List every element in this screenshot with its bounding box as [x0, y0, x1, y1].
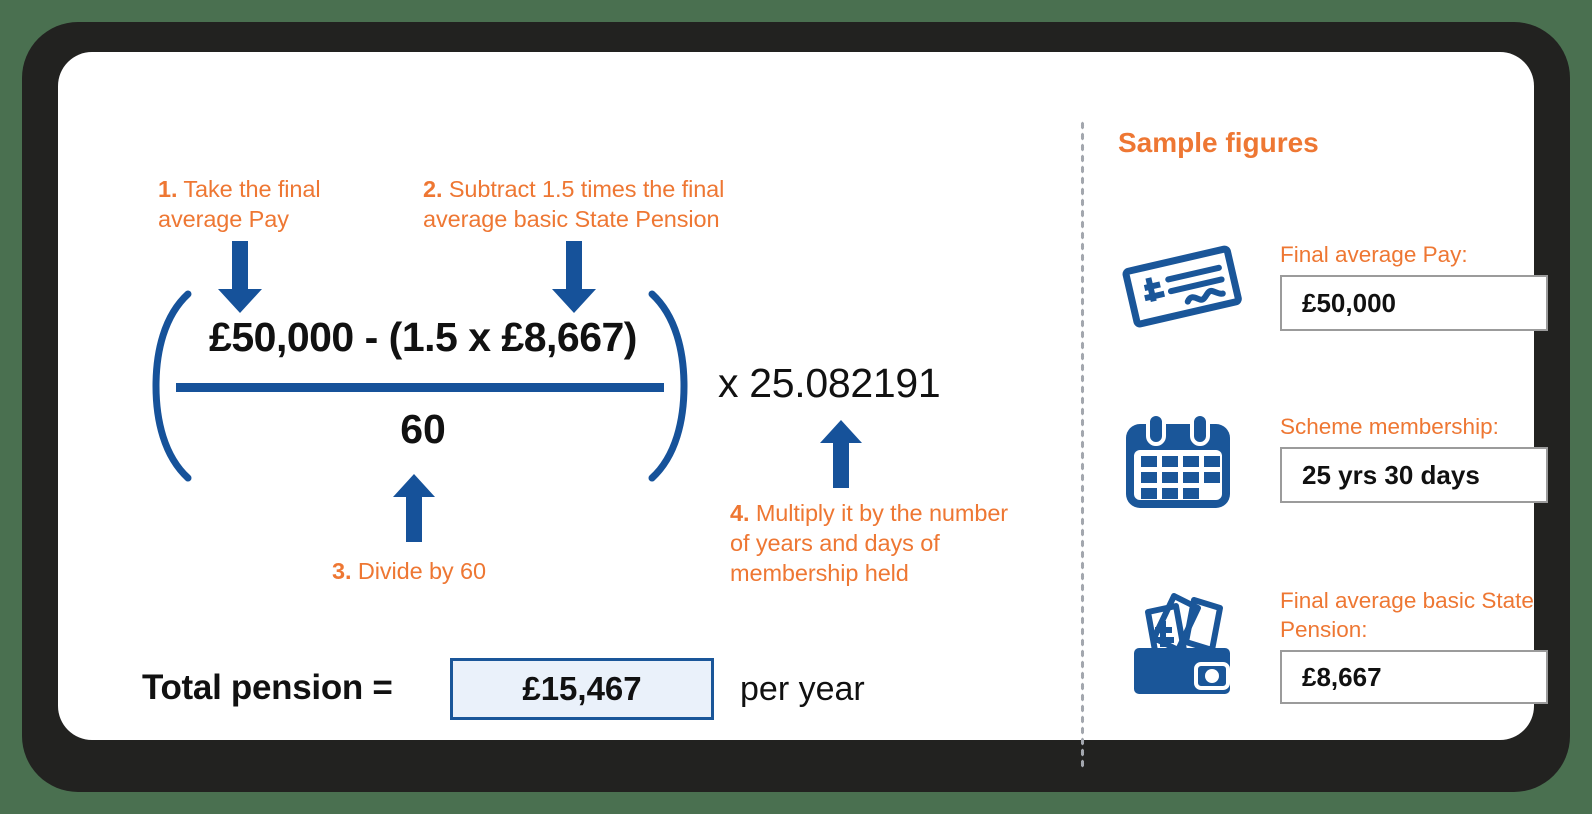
step-4-number: 4.: [730, 500, 749, 526]
total-pension-label: Total pension =: [142, 668, 393, 708]
step-2-caption: 2. Subtract 1.5 times the final average …: [423, 174, 763, 234]
figure-body: Scheme membership: 25 yrs 30 days: [1280, 412, 1552, 503]
down-arrow-icon: [551, 241, 597, 313]
dotted-divider: [1080, 120, 1085, 770]
step-1-caption: 1. Take the final average Pay: [158, 174, 408, 234]
step-4-caption: 4. Multiply it by the number of years an…: [730, 498, 1030, 588]
fraction-bar: [176, 383, 664, 392]
formula-multiplier: x 25.082191: [718, 360, 940, 407]
figure-value-box: 25 yrs 30 days: [1280, 447, 1548, 503]
sample-figures-title: Sample figures: [1118, 127, 1319, 159]
infographic-canvas: 1. Take the final average Pay 2. Subtrac…: [0, 0, 1592, 814]
content-card: 1. Take the final average Pay 2. Subtrac…: [58, 52, 1534, 740]
figure-body: Final average basic State Pension: £8,66…: [1280, 586, 1552, 704]
figure-label: Final average Pay:: [1280, 240, 1552, 269]
step-2-number: 2.: [423, 176, 442, 202]
step-3-number: 3.: [332, 558, 351, 584]
up-arrow-icon: [819, 420, 863, 488]
figure-value-box: £50,000: [1280, 275, 1548, 331]
formula-numerator: £50,000 - (1.5 x £8,667): [188, 314, 658, 361]
step-1-text: Take the final average Pay: [158, 176, 321, 232]
wallet-icon: [1118, 586, 1246, 696]
figure-body: Final average Pay: £50,000: [1280, 240, 1552, 331]
down-arrow-icon: [217, 241, 263, 313]
up-arrow-icon: [392, 474, 436, 542]
step-4-text: Multiply it by the number of years and d…: [730, 500, 1008, 586]
figure-label: Final average basic State Pension:: [1280, 586, 1552, 644]
formula-denominator: 60: [188, 406, 658, 453]
step-1-number: 1.: [158, 176, 177, 202]
step-2-text: Subtract 1.5 times the final average bas…: [423, 176, 724, 232]
figure-value-box: £8,667: [1280, 650, 1548, 704]
calendar-icon: [1118, 412, 1246, 522]
step-3-text: Divide by 60: [351, 558, 486, 584]
total-pension-suffix: per year: [740, 670, 865, 709]
total-pension-value-box: £15,467: [450, 658, 714, 720]
figure-label: Scheme membership:: [1280, 412, 1552, 441]
step-3-caption: 3. Divide by 60: [332, 556, 592, 586]
cheque-icon: [1118, 240, 1246, 350]
